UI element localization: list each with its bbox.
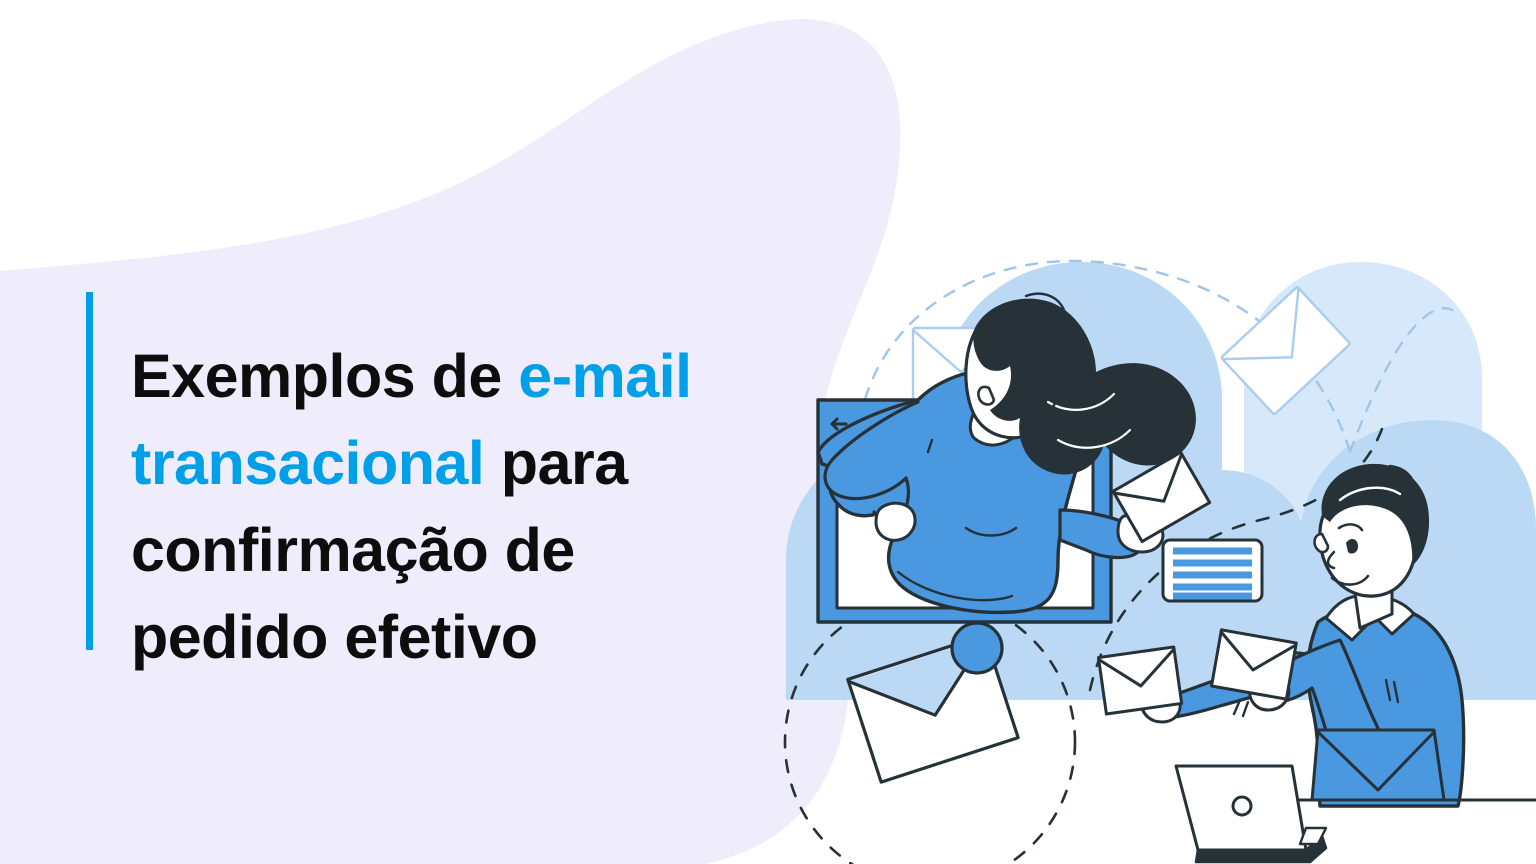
hero-banner: Exemplos de e-mailtransacional paraconfi…	[0, 0, 1536, 864]
message-card	[1163, 540, 1262, 601]
desk-envelope-blue	[1312, 730, 1444, 800]
outlined-envelope-top-right	[1221, 287, 1350, 415]
woman-left-hand	[876, 503, 915, 540]
man-envelope-right	[1212, 630, 1297, 699]
envelope-seal	[952, 623, 1002, 673]
laptop	[1176, 766, 1326, 862]
illustration	[0, 0, 1536, 864]
sealed-envelope-bottom	[848, 623, 1018, 782]
man-envelope-left	[1098, 647, 1181, 714]
laptop-logo-icon	[1233, 797, 1251, 815]
